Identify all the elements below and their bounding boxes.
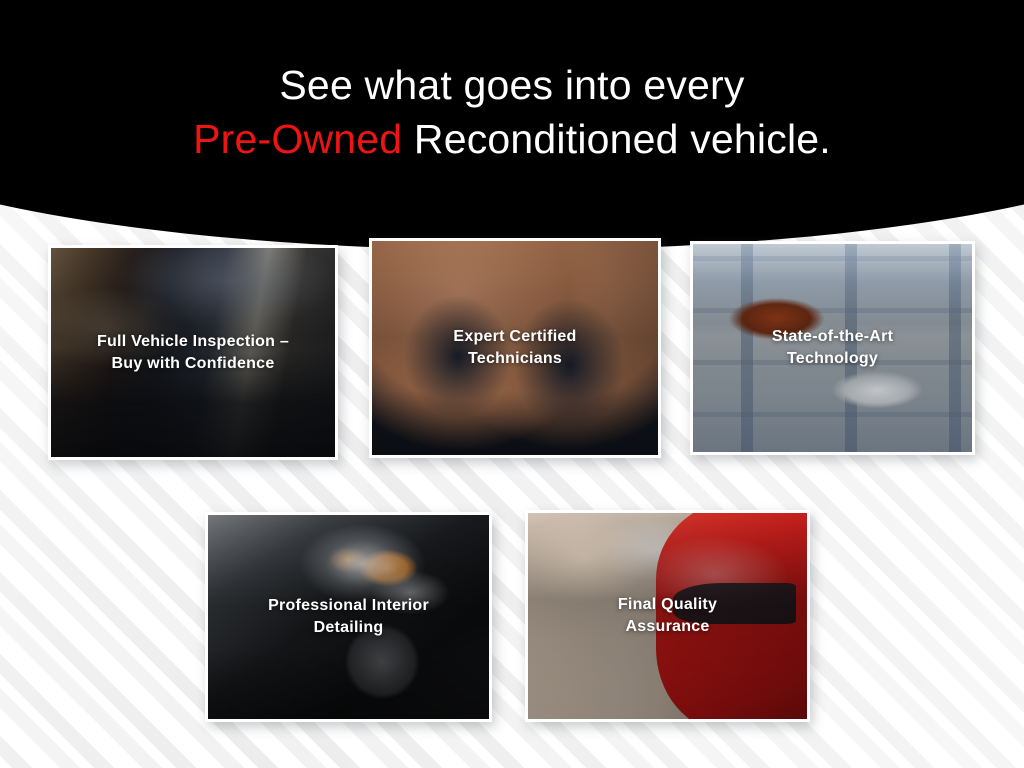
card-caption-full-vehicle-inspection: Full Vehicle Inspection – Buy with Confi… bbox=[57, 331, 329, 375]
card-caption-state-of-the-art-technology: State-of-the-Art Technology bbox=[699, 326, 966, 370]
card-image-state-of-the-art-technology: State-of-the-Art Technology bbox=[693, 244, 972, 452]
card-professional-interior-detailing[interactable]: Professional Interior Detailing bbox=[205, 512, 492, 722]
headline-accent-pre-owned: Pre-Owned bbox=[193, 116, 402, 162]
headline-line-1: See what goes into every bbox=[279, 62, 744, 108]
card-caption-final-quality-assurance: Final Quality Assurance bbox=[534, 594, 801, 638]
card-final-quality-assurance[interactable]: Final Quality Assurance bbox=[525, 510, 810, 722]
card-image-final-quality-assurance: Final Quality Assurance bbox=[528, 513, 807, 719]
card-image-expert-certified-technicians: Expert Certified Technicians bbox=[372, 241, 658, 455]
card-full-vehicle-inspection[interactable]: Full Vehicle Inspection – Buy with Confi… bbox=[48, 245, 338, 460]
slide-canvas: See what goes into every Pre-Owned Recon… bbox=[0, 0, 1024, 768]
card-state-of-the-art-technology[interactable]: State-of-the-Art Technology bbox=[690, 241, 975, 455]
headline-line-2-rest: Reconditioned vehicle. bbox=[402, 116, 831, 162]
card-image-professional-interior-detailing: Professional Interior Detailing bbox=[208, 515, 489, 719]
page-title: See what goes into every Pre-Owned Recon… bbox=[0, 58, 1024, 166]
card-image-full-vehicle-inspection: Full Vehicle Inspection – Buy with Confi… bbox=[51, 248, 335, 457]
card-caption-expert-certified-technicians: Expert Certified Technicians bbox=[378, 326, 652, 370]
card-expert-certified-technicians[interactable]: Expert Certified Technicians bbox=[369, 238, 661, 458]
card-caption-professional-interior-detailing: Professional Interior Detailing bbox=[214, 595, 483, 639]
